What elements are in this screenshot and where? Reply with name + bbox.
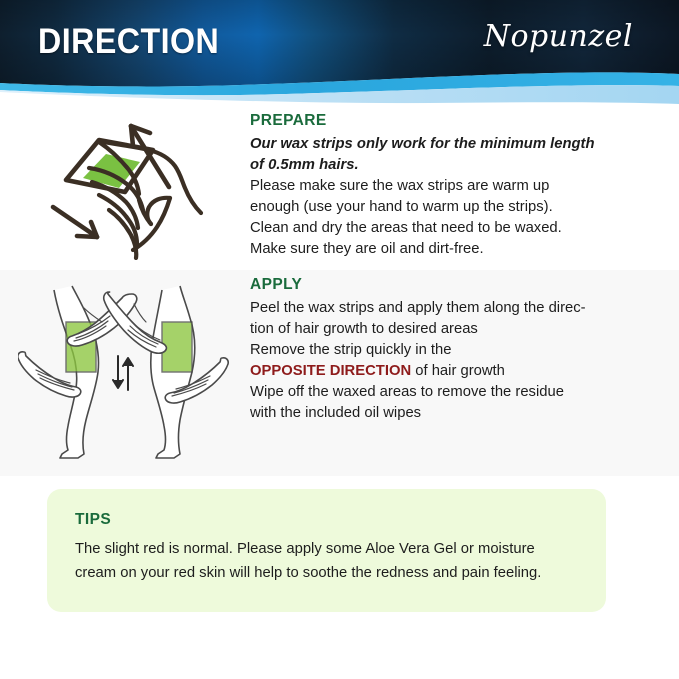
step-section-prepare: PREPARE Our wax strips only work for the… (0, 104, 679, 270)
prepare-line-3: Please make sure the wax strips are warm… (250, 176, 645, 197)
step-body-apply: Peel the wax strips and apply them along… (250, 298, 645, 424)
page-title: DIRECTION (38, 24, 219, 59)
apply-line-6: with the included oil wipes (250, 403, 645, 424)
brand-logo: Nopunzel (484, 22, 633, 52)
tips-section: TIPS The slight red is normal. Please ap… (0, 476, 679, 612)
tips-line-1: The slight red is normal. Please apply s… (75, 538, 578, 562)
step-heading-prepare: PREPARE (250, 112, 645, 131)
apply-line-4-b: of hair growth (411, 363, 505, 379)
apply-line-5: Wipe off the waxed areas to remove the r… (250, 382, 645, 403)
apply-figure (0, 270, 250, 466)
tips-line-2: cream on your red skin will help to soot… (75, 562, 578, 586)
prepare-line-2-a: of (250, 157, 268, 173)
prepare-line-2-c: hairs. (315, 157, 359, 173)
prepare-line-2-b: 0.5mm (268, 157, 315, 173)
step-body-prepare: Our wax strips only work for the minimum… (250, 134, 645, 260)
apply-text: APPLY Peel the wax strips and apply them… (250, 270, 679, 424)
prepare-text: PREPARE Our wax strips only work for the… (250, 112, 679, 260)
prepare-line-2: of 0.5mm hairs. (250, 155, 645, 176)
prepare-line-1: Our wax strips only work for the minimum… (250, 134, 645, 155)
prepare-line-5: Clean and dry the areas that need to be … (250, 218, 645, 239)
tips-body: The slight red is normal. Please apply s… (75, 538, 578, 586)
tips-heading: TIPS (75, 511, 578, 529)
hand-rubbing-wax-strip-icon (33, 112, 218, 260)
prepare-figure (0, 112, 250, 260)
step-heading-apply: APPLY (250, 276, 645, 295)
apply-line-4: OPPOSITE DIRECTION of hair growth (250, 361, 645, 382)
prepare-line-6: Make sure they are oil and dirt-free. (250, 239, 645, 260)
prepare-line-4: enough (use your hand to warm up the str… (250, 197, 645, 218)
tips-box: TIPS The slight red is normal. Please ap… (47, 489, 606, 612)
apply-line-2: tion of hair growth to desired areas (250, 319, 645, 340)
page-header: DIRECTION Nopunzel (0, 0, 679, 104)
apply-emphasis-opposite-direction: OPPOSITE DIRECTION (250, 363, 411, 379)
legs-waxing-direction-icon (18, 278, 232, 466)
instructions-content: PREPARE Our wax strips only work for the… (0, 104, 679, 612)
apply-line-1: Peel the wax strips and apply them along… (250, 298, 645, 319)
apply-line-3: Remove the strip quickly in the (250, 340, 645, 361)
step-section-apply: APPLY Peel the wax strips and apply them… (0, 270, 679, 476)
